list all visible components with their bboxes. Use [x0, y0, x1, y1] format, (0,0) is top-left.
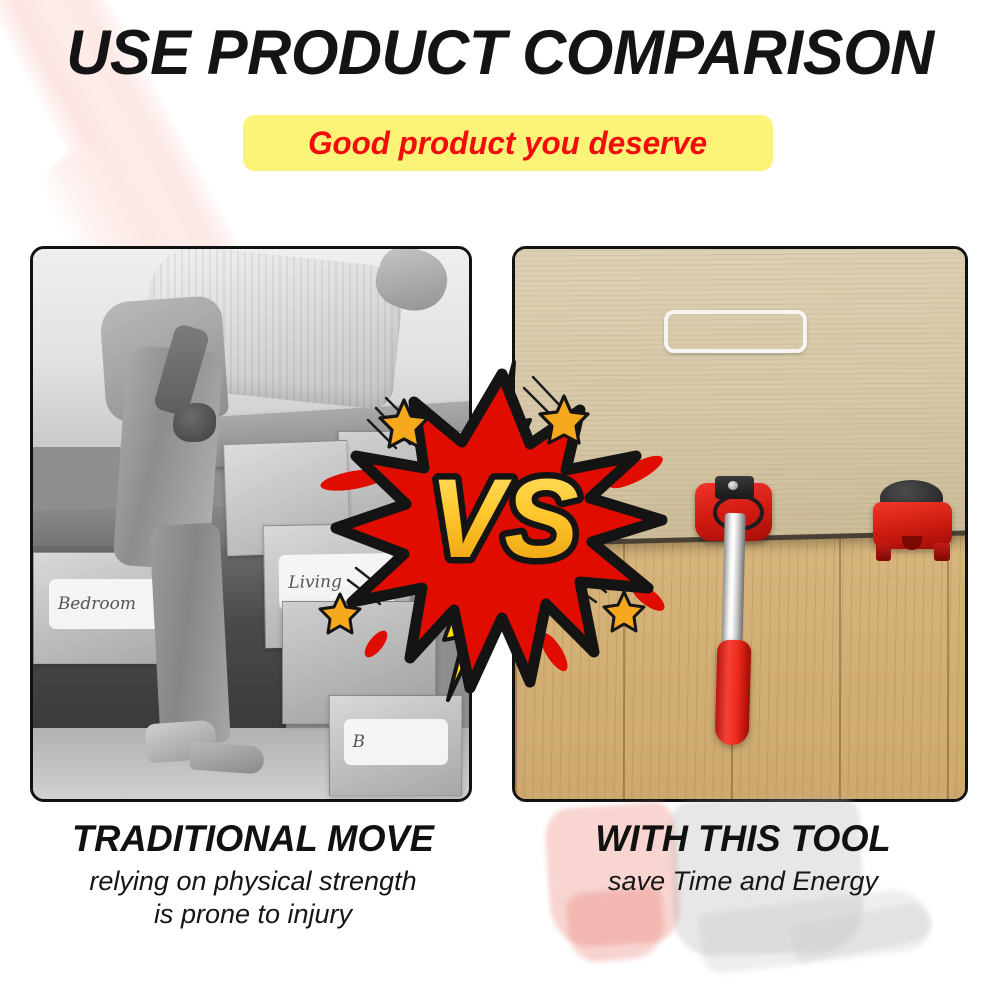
furniture-handle [664, 310, 807, 354]
caption-subtext: save Time and Energy [508, 865, 978, 898]
moving-box [338, 431, 471, 532]
person-hand [173, 403, 217, 442]
caption-subtext-line1: save Time and Energy [508, 865, 978, 898]
photo-traditional-move: Bedroom Living B [33, 249, 469, 799]
lifter-tool-rod [721, 513, 745, 651]
comparison-panel-with-tool [512, 246, 968, 802]
comparison-panel-traditional: Bedroom Living B [30, 246, 472, 802]
caption-with-tool: WITH THIS TOOL save Time and Energy [508, 818, 978, 898]
caption-subtext: relying on physical strength is prone to… [18, 865, 488, 931]
lifter-tool-grip [714, 639, 751, 744]
lifter-tool-bolt [728, 481, 738, 490]
caption-subtext-line1: relying on physical strength [18, 865, 488, 898]
person-lower-leg [149, 522, 230, 745]
subtitle-banner: Good product you deserve [243, 115, 773, 171]
page-title: USE PRODUCT COMPARISON [15, 22, 985, 85]
caption-title: WITH THIS TOOL [513, 818, 974, 859]
photo-with-this-tool [515, 249, 965, 799]
roller-dolly-wheel [934, 543, 949, 561]
ghost-tool-gray-tail [790, 900, 935, 964]
ghost-tool-gray-lower [697, 886, 933, 976]
moving-box-b: B [329, 695, 462, 796]
roller-dolly-wheel [876, 543, 891, 561]
caption-subtext-line2: is prone to injury [18, 898, 488, 931]
person-foot [189, 741, 265, 774]
box-label: Bedroom [49, 579, 168, 630]
subtitle-text: Good product you deserve [308, 125, 707, 162]
caption-traditional: TRADITIONAL MOVE relying on physical str… [18, 818, 488, 931]
caption-title: TRADITIONAL MOVE [23, 818, 484, 859]
product-comparison-infographic: USE PRODUCT COMPARISON Good product you … [0, 0, 1000, 1000]
box-label: B [344, 719, 449, 765]
